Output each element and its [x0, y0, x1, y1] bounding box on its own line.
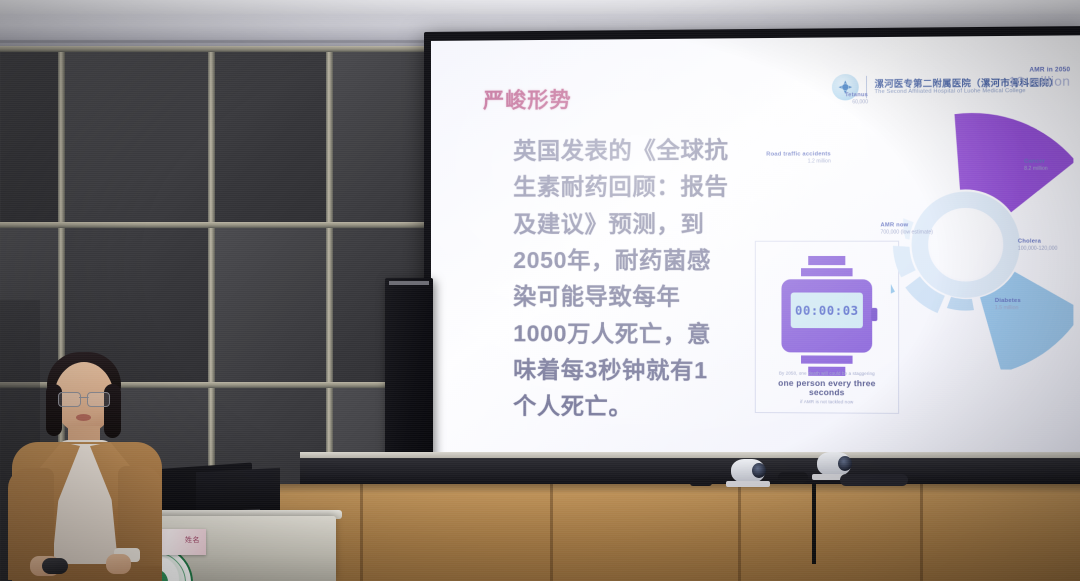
chart-label-value: 60,000 [810, 99, 868, 105]
lens-right [87, 392, 110, 407]
watch-face: 00:00:03 [791, 292, 863, 328]
chart-label-cancer: Cancer 8.2 million [1024, 159, 1048, 172]
av-accessory [690, 478, 712, 486]
watch-strap [801, 355, 853, 363]
conference-mic-pod [840, 474, 908, 486]
digital-watch-icon: 00:00:03 [780, 256, 873, 376]
ptz-camera [726, 455, 770, 487]
wall-mullion [0, 222, 430, 228]
slide-title: 严峻形势 [483, 84, 572, 115]
chart-label-amr-2050: AMR in 2050 10 million [982, 66, 1070, 90]
chart-label-value: 1.2 million [757, 158, 831, 164]
camera-lens-icon [838, 456, 852, 471]
glasses-icon [58, 392, 110, 405]
chart-label-text: Road traffic accidents [757, 151, 831, 158]
chart-label-value: 10 million [982, 74, 1070, 91]
screenshot-root: 严峻形势 漯河医专第二附属医院（漯河市骨科医院） [0, 0, 1080, 581]
mouth [76, 414, 91, 421]
caption-main-line: one person every three seconds [762, 378, 892, 397]
chart-label-value: 100,000-120,000 [1018, 245, 1058, 251]
watch-strap [808, 256, 845, 265]
camera-lens-icon [752, 463, 766, 478]
chart-label-tetanus: Tetanus 60,000 [810, 92, 868, 105]
presentation-slide: 严峻形势 漯河医专第二附属医院（漯河市骨科医院） [431, 35, 1080, 482]
caption-top-line: By 2050, one death will could be a stagg… [762, 370, 892, 376]
cable [812, 484, 816, 564]
speaker-cap [389, 281, 429, 285]
cabinet-seam [738, 484, 741, 581]
chart-label-amr-now: AMR now 700,000 (low estimate) [880, 222, 946, 235]
av-accessory [778, 472, 808, 483]
nameplate-text: 姓名 [185, 535, 200, 545]
slide-body-text: 英国发表的《全球抗生素耐药回顾：报告及建议》预测，到2050年，耐药菌感染可能导… [513, 131, 731, 425]
chart-label-text: Cholera [1018, 239, 1058, 246]
wall-panel [64, 46, 216, 228]
ceiling-light-strip [0, 0, 1080, 14]
projection-screen: 严峻形势 漯河医专第二附属医院（漯河市骨科医院） [424, 26, 1080, 490]
chart-label-value: 1.5 million [995, 305, 1021, 311]
cabinet-seam [360, 484, 363, 581]
chart-label-value: 8.2 million [1024, 165, 1048, 171]
projection-surface: 严峻形势 漯河医专第二附属医院（漯河市骨科医院） [431, 35, 1080, 482]
stopwatch-card: 00:00:03 By 2050, one death will could b… [755, 241, 899, 414]
watch-crown [871, 308, 877, 321]
chart-label-diabetes: Diabetes 1.5 million [995, 298, 1021, 311]
chart-label-value: 700,000 (low estimate) [880, 229, 946, 235]
hand-right [106, 554, 131, 574]
chart-label-text: Cancer [1024, 159, 1048, 166]
presenter-clicker [42, 558, 68, 574]
cabinet-seam [920, 484, 923, 581]
wall-panel [214, 46, 334, 228]
wall-mullion [0, 46, 430, 52]
cabinet-seam [550, 484, 553, 581]
watch-time-readout: 00:00:03 [795, 303, 859, 317]
watch-strap [801, 268, 853, 276]
wall-panel [0, 46, 66, 228]
caption-bottom-line: if AMR is not tackled now [762, 398, 892, 404]
chart-label-cholera: Cholera 100,000-120,000 [1018, 239, 1058, 252]
wall-panel [214, 226, 334, 388]
stopwatch-caption: By 2050, one death will could be a stagg… [762, 370, 892, 404]
presenter [6, 358, 166, 581]
amr-radial-chart: AMR in 2050 10 million Cancer 8.2 millio… [891, 62, 1074, 370]
cabinet-shadow [268, 484, 1080, 494]
chart-label-road-traffic: Road traffic accidents 1.2 million [757, 151, 831, 164]
lens-left [58, 392, 81, 407]
camera-base [726, 481, 770, 487]
watch-case: 00:00:03 [781, 279, 872, 352]
chart-label-text: Diabetes [995, 298, 1021, 305]
wall-panel [332, 46, 430, 228]
wooden-cabinet [268, 484, 1080, 581]
